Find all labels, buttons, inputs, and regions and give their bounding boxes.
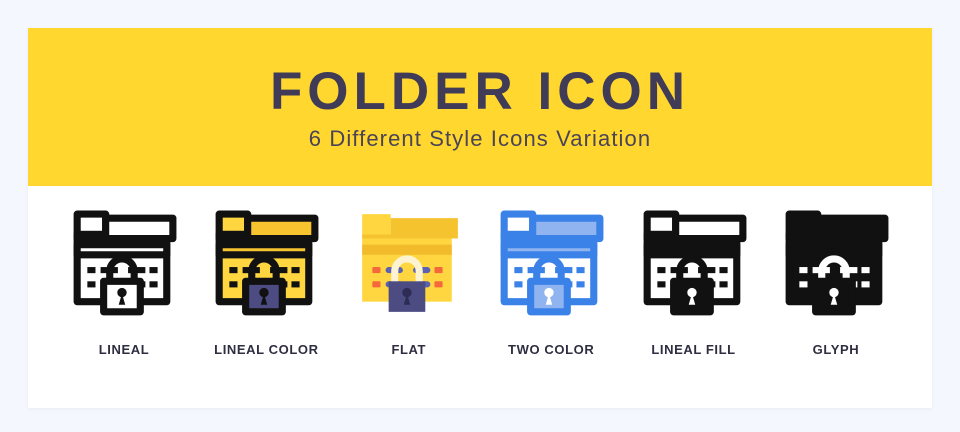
- content-card: FOLDER ICON 6 Different Style Icons Vari…: [28, 28, 932, 408]
- header-band: FOLDER ICON 6 Different Style Icons Vari…: [28, 28, 932, 186]
- folder-lock-icon[interactable]: [66, 208, 182, 320]
- folder-lock-icon[interactable]: [208, 208, 324, 320]
- icon-cell-glyph[interactable]: GLYPH: [766, 208, 906, 357]
- icon-label: TWO COLOR: [508, 342, 594, 357]
- page-title: FOLDER ICON: [270, 65, 690, 118]
- icon-cell-lineal-fill[interactable]: LINEAL FILL: [624, 208, 764, 357]
- icon-label: LINEAL: [99, 342, 150, 357]
- icon-label: LINEAL COLOR: [214, 342, 318, 357]
- folder-lock-icon[interactable]: [636, 208, 752, 320]
- icon-cell-lineal-color[interactable]: LINEAL COLOR: [196, 208, 336, 357]
- page-subtitle: 6 Different Style Icons Variation: [309, 128, 651, 150]
- folder-lock-icon[interactable]: [351, 208, 467, 320]
- icon-label: LINEAL FILL: [651, 342, 735, 357]
- folder-lock-icon[interactable]: [778, 208, 894, 320]
- icon-label: FLAT: [391, 342, 426, 357]
- icon-cell-two-color[interactable]: TWO COLOR: [481, 208, 621, 357]
- icon-cell-lineal[interactable]: LINEAL: [54, 208, 194, 357]
- icon-label: GLYPH: [813, 342, 860, 357]
- icon-variations-strip: LINEAL LINEAL COLOR FLAT TWO COLOR LINEA…: [28, 186, 932, 408]
- poster-page: FOLDER ICON 6 Different Style Icons Vari…: [0, 0, 960, 432]
- icon-cell-flat[interactable]: FLAT: [339, 208, 479, 357]
- folder-lock-icon[interactable]: [493, 208, 609, 320]
